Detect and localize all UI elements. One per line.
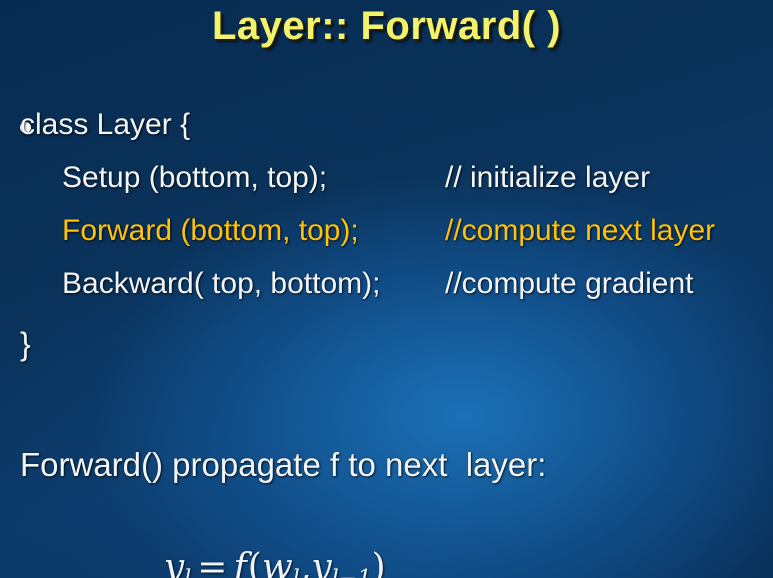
code-line-class-open: class Layer { <box>0 108 773 161</box>
code-line-forward: Forward (bottom, top); //compute next la… <box>0 214 773 267</box>
code-statement-backward: Backward( top, bottom); <box>62 267 380 301</box>
code-comment-setup: // initialize layer <box>445 161 650 195</box>
formula-arg1-var: w <box>262 547 293 578</box>
formula-arg2-var: y <box>311 547 331 578</box>
formula-close-paren: ) <box>372 547 386 578</box>
code-statement-class-close: } <box>20 326 31 363</box>
formula-lhs-var: y <box>164 547 184 578</box>
code-block: class Layer { Setup (bottom, top); // in… <box>0 108 773 320</box>
code-line-backward: Backward( top, bottom); //compute gradie… <box>0 267 773 320</box>
formula-open-paren: ( <box>248 547 262 578</box>
code-line-setup: Setup (bottom, top); // initialize layer <box>0 161 773 214</box>
formula-function: f <box>233 547 247 578</box>
code-statement-forward: Forward (bottom, top); <box>62 214 359 248</box>
page-title: Layer:: Forward( ) <box>0 4 773 49</box>
formula-comma: , <box>300 547 311 578</box>
caption-text: Forward() propagate f to next layer: <box>20 446 546 484</box>
formula-arg2-sub: l−1 <box>332 566 372 578</box>
code-statement-class-open: class Layer { <box>20 108 190 142</box>
formula-equals: = <box>191 547 233 578</box>
code-statement-setup: Setup (bottom, top); <box>62 161 327 195</box>
code-comment-backward: //compute gradient <box>445 267 693 301</box>
formula-arg1-sub: l <box>293 566 300 578</box>
code-comment-forward: //compute next layer <box>445 214 715 248</box>
slide-canvas: Layer:: Forward( ) class Layer { Setup (… <box>0 0 773 578</box>
math-formula: yl=f(wl,yl−1) <box>118 506 386 578</box>
